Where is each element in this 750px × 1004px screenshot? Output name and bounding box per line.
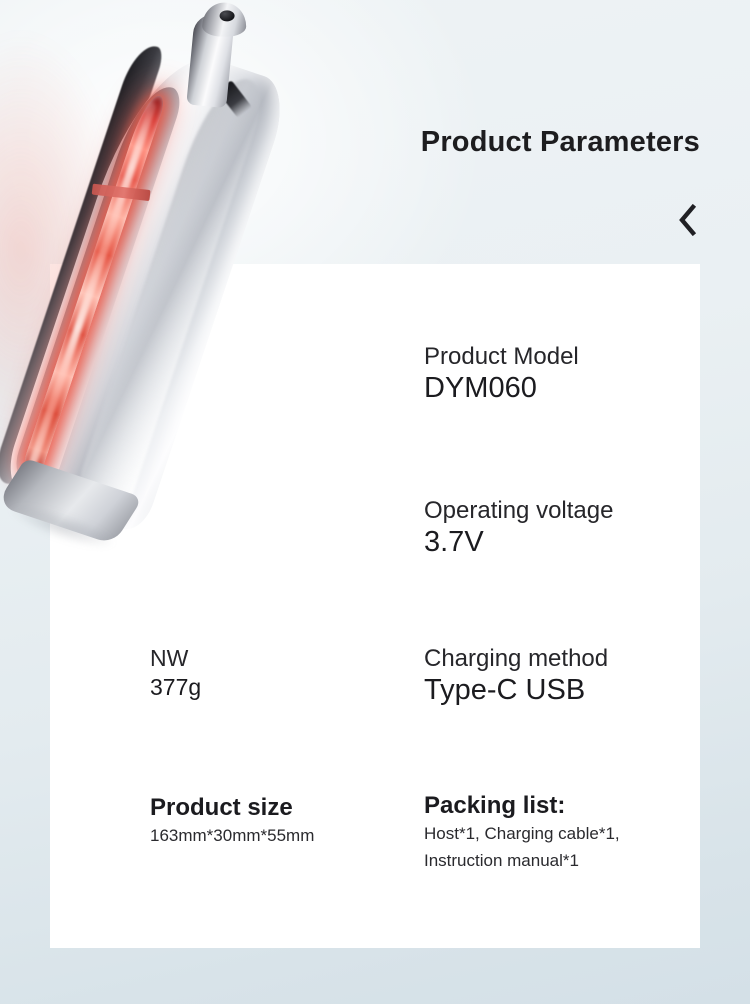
page-title: Product Parameters [370,126,700,159]
spec-value-charging: Type-C USB [424,673,608,708]
spec-value-packing-line1: Host*1, Charging cable*1, [424,821,620,847]
spec-label-net-weight: NW [150,644,201,673]
spec-item-model: Product Model DYM060 [424,342,579,406]
spec-item-voltage: Operating voltage 3.7V [424,496,613,560]
device-tip-port [220,10,235,21]
product-parameters-page: Product Parameters Product Model DYM060 … [0,0,750,1004]
spec-value-net-weight: 377g [150,673,201,703]
spec-value-packing-line2: Instruction manual*1 [424,848,620,874]
spec-value-model: DYM060 [424,371,579,406]
spec-label-model: Product Model [424,342,579,371]
spec-label-charging: Charging method [424,644,608,673]
spec-value-size: 163mm*30mm*55mm [150,823,314,849]
spec-card: Product Model DYM060 Operating voltage 3… [50,264,700,948]
chevron-left-icon[interactable] [666,196,710,244]
device-red-tab [92,184,151,201]
device-neck [186,13,235,108]
spec-item-charging: Charging method Type-C USB [424,644,608,708]
device-tip-cap [202,2,246,36]
spec-label-size: Product size [150,792,314,823]
spec-value-voltage: 3.7V [424,525,613,560]
spec-item-size: Product size 163mm*30mm*55mm [150,792,314,850]
spec-item-packing: Packing list: Host*1, Charging cable*1, … [424,790,620,874]
spec-label-packing: Packing list: [424,790,620,821]
spec-item-net-weight: NW 377g [150,644,201,703]
spec-label-voltage: Operating voltage [424,496,613,525]
device-shoulder-accent [217,80,252,118]
